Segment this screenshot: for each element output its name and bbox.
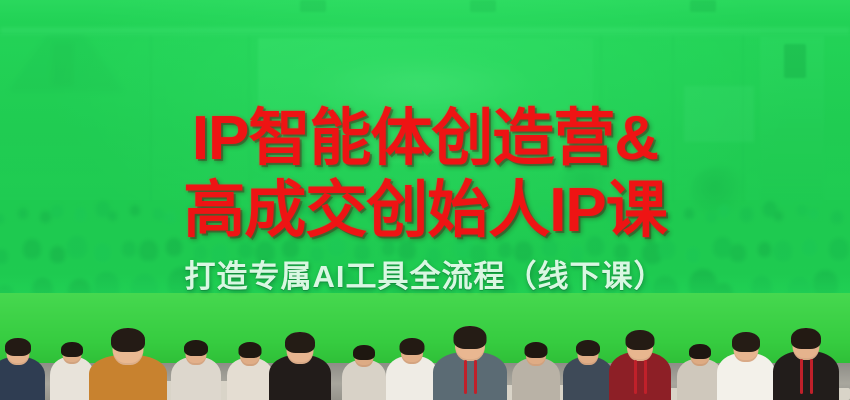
- attendee: [717, 332, 775, 400]
- attendee-lanyard: [464, 360, 467, 394]
- attendee-hair: [732, 332, 760, 352]
- attendee-hair: [239, 342, 262, 358]
- attendee: [269, 332, 331, 400]
- attendee-lanyard: [810, 359, 813, 394]
- green-color-overlay-secondary: [0, 0, 850, 300]
- promo-banner: IP智能体创造营& 高成交创始人IP课 打造专属AI工具全流程（线下课）: [0, 0, 850, 400]
- attendee-hair: [454, 326, 487, 349]
- attendee-hair: [400, 338, 425, 355]
- attendee: [773, 328, 839, 400]
- attendee: [433, 326, 507, 400]
- attendee-hair: [689, 344, 711, 359]
- attendee-lanyard: [800, 359, 803, 394]
- conference-hall-background: [0, 0, 850, 300]
- attendee-lanyard: [474, 360, 477, 394]
- attendee-hair: [285, 332, 315, 353]
- attendees-photo-strip: [0, 293, 850, 400]
- attendee: [563, 340, 613, 400]
- attendee-hair: [61, 342, 83, 357]
- attendee: [50, 342, 94, 400]
- attendee-hair: [111, 328, 145, 352]
- attendee: [89, 328, 167, 400]
- attendee: [227, 342, 273, 400]
- attendee: [0, 338, 45, 400]
- attendee: [171, 340, 221, 400]
- attendee: [342, 345, 386, 400]
- attendee-hair: [626, 330, 655, 350]
- attendee-hair: [525, 342, 548, 358]
- attendee: [512, 342, 560, 400]
- attendee-lanyard: [634, 360, 637, 394]
- attendee-hair: [791, 328, 821, 349]
- attendee-hair: [353, 345, 375, 360]
- attendee: [386, 338, 438, 400]
- attendee-lanyard: [644, 360, 647, 394]
- attendee-hair: [184, 340, 208, 356]
- attendee: [609, 330, 671, 400]
- attendee-hair: [576, 340, 600, 356]
- attendee-hair: [5, 338, 31, 356]
